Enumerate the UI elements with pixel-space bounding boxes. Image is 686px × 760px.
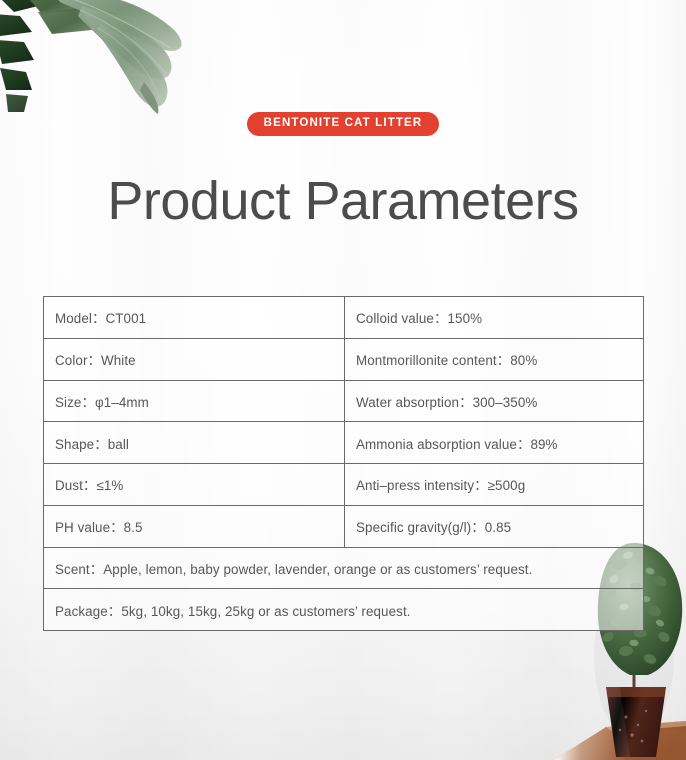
table-cell-shape: Shape：ball xyxy=(44,422,345,464)
cell-label: Shape： xyxy=(55,437,108,452)
cell-value: 89% xyxy=(530,437,557,452)
cell-label: Dust： xyxy=(55,478,96,493)
cell-value: 8.5 xyxy=(124,520,143,535)
cell-value: Apple, lemon, baby powder, lavender, ora… xyxy=(103,562,532,577)
cell-label: Colloid value： xyxy=(356,311,447,326)
table-cell-dust: Dust：≤1% xyxy=(44,464,345,506)
table-cell-colloid-value: Colloid value：150% xyxy=(345,297,644,339)
cell-value: ball xyxy=(108,437,129,452)
table-row: Shape：ball Ammonia absorption value：89% xyxy=(44,422,644,464)
table-row: Size：φ1–4mm Water absorption：300–350% xyxy=(44,380,644,422)
cell-label: Ammonia absorption value： xyxy=(356,437,530,452)
cell-value: White xyxy=(101,353,136,368)
table-cell-color: Color：White xyxy=(44,338,345,380)
table-cell-scent: Scent：Apple, lemon, baby powder, lavende… xyxy=(44,547,644,589)
table-cell-water-absorption: Water absorption：300–350% xyxy=(345,380,644,422)
table-row: Dust：≤1% Anti–press intensity：≥500g xyxy=(44,464,644,506)
cell-label: Anti–press intensity： xyxy=(356,478,488,493)
cell-value: 5kg, 10kg, 15kg, 25kg or as customers’ r… xyxy=(121,604,410,619)
table-row: Model：CT001 Colloid value：150% xyxy=(44,297,644,339)
cell-label: PH value： xyxy=(55,520,124,535)
cell-value: 0.85 xyxy=(485,520,511,535)
table-cell-montmorillonite-content: Montmorillonite content：80% xyxy=(345,338,644,380)
cell-value: φ1–4mm xyxy=(95,395,149,410)
cell-label: Size： xyxy=(55,395,95,410)
cell-label: Color： xyxy=(55,353,101,368)
cell-value: 300–350% xyxy=(473,395,538,410)
product-parameters-table: Model：CT001 Colloid value：150% Color：Whi… xyxy=(43,296,644,631)
table-cell-model: Model：CT001 xyxy=(44,297,345,339)
table-row: Package：5kg, 10kg, 15kg, 25kg or as cust… xyxy=(44,589,644,631)
cell-value: ≥500g xyxy=(488,478,526,493)
cell-label: Scent： xyxy=(55,562,103,577)
cell-label: Package： xyxy=(55,604,121,619)
cell-value: 150% xyxy=(447,311,482,326)
cell-label: Montmorillonite content： xyxy=(356,353,510,368)
cell-value: 80% xyxy=(510,353,537,368)
table-row: PH value：8.5 Specific gravity(g/l)：0.85 xyxy=(44,505,644,547)
product-parameters-page: BENTONITE CAT LITTER Product Parameters … xyxy=(0,0,686,760)
page-title: Product Parameters xyxy=(0,172,686,231)
table-row: Scent：Apple, lemon, baby powder, lavende… xyxy=(44,547,644,589)
table-cell-anti-press-intensity: Anti–press intensity：≥500g xyxy=(345,464,644,506)
table-cell-ammonia-absorption-value: Ammonia absorption value：89% xyxy=(345,422,644,464)
table-cell-package: Package：5kg, 10kg, 15kg, 25kg or as cust… xyxy=(44,589,644,631)
table-row: Color：White Montmorillonite content：80% xyxy=(44,338,644,380)
table-cell-specific-gravity: Specific gravity(g/l)：0.85 xyxy=(345,505,644,547)
monstera-leaf-icon xyxy=(0,0,184,115)
cell-value: ≤1% xyxy=(96,478,123,493)
badge-container: BENTONITE CAT LITTER xyxy=(0,112,686,136)
cell-value: CT001 xyxy=(105,311,146,326)
status-badge: BENTONITE CAT LITTER xyxy=(247,112,440,136)
cell-label: Model： xyxy=(55,311,105,326)
table-cell-size: Size：φ1–4mm xyxy=(44,380,345,422)
wooden-floor-icon xyxy=(466,680,686,760)
cell-label: Water absorption： xyxy=(356,395,473,410)
table-cell-ph-value: PH value：8.5 xyxy=(44,505,345,547)
table-body: Model：CT001 Colloid value：150% Color：Whi… xyxy=(44,297,644,631)
cell-label: Specific gravity(g/l)： xyxy=(356,520,485,535)
